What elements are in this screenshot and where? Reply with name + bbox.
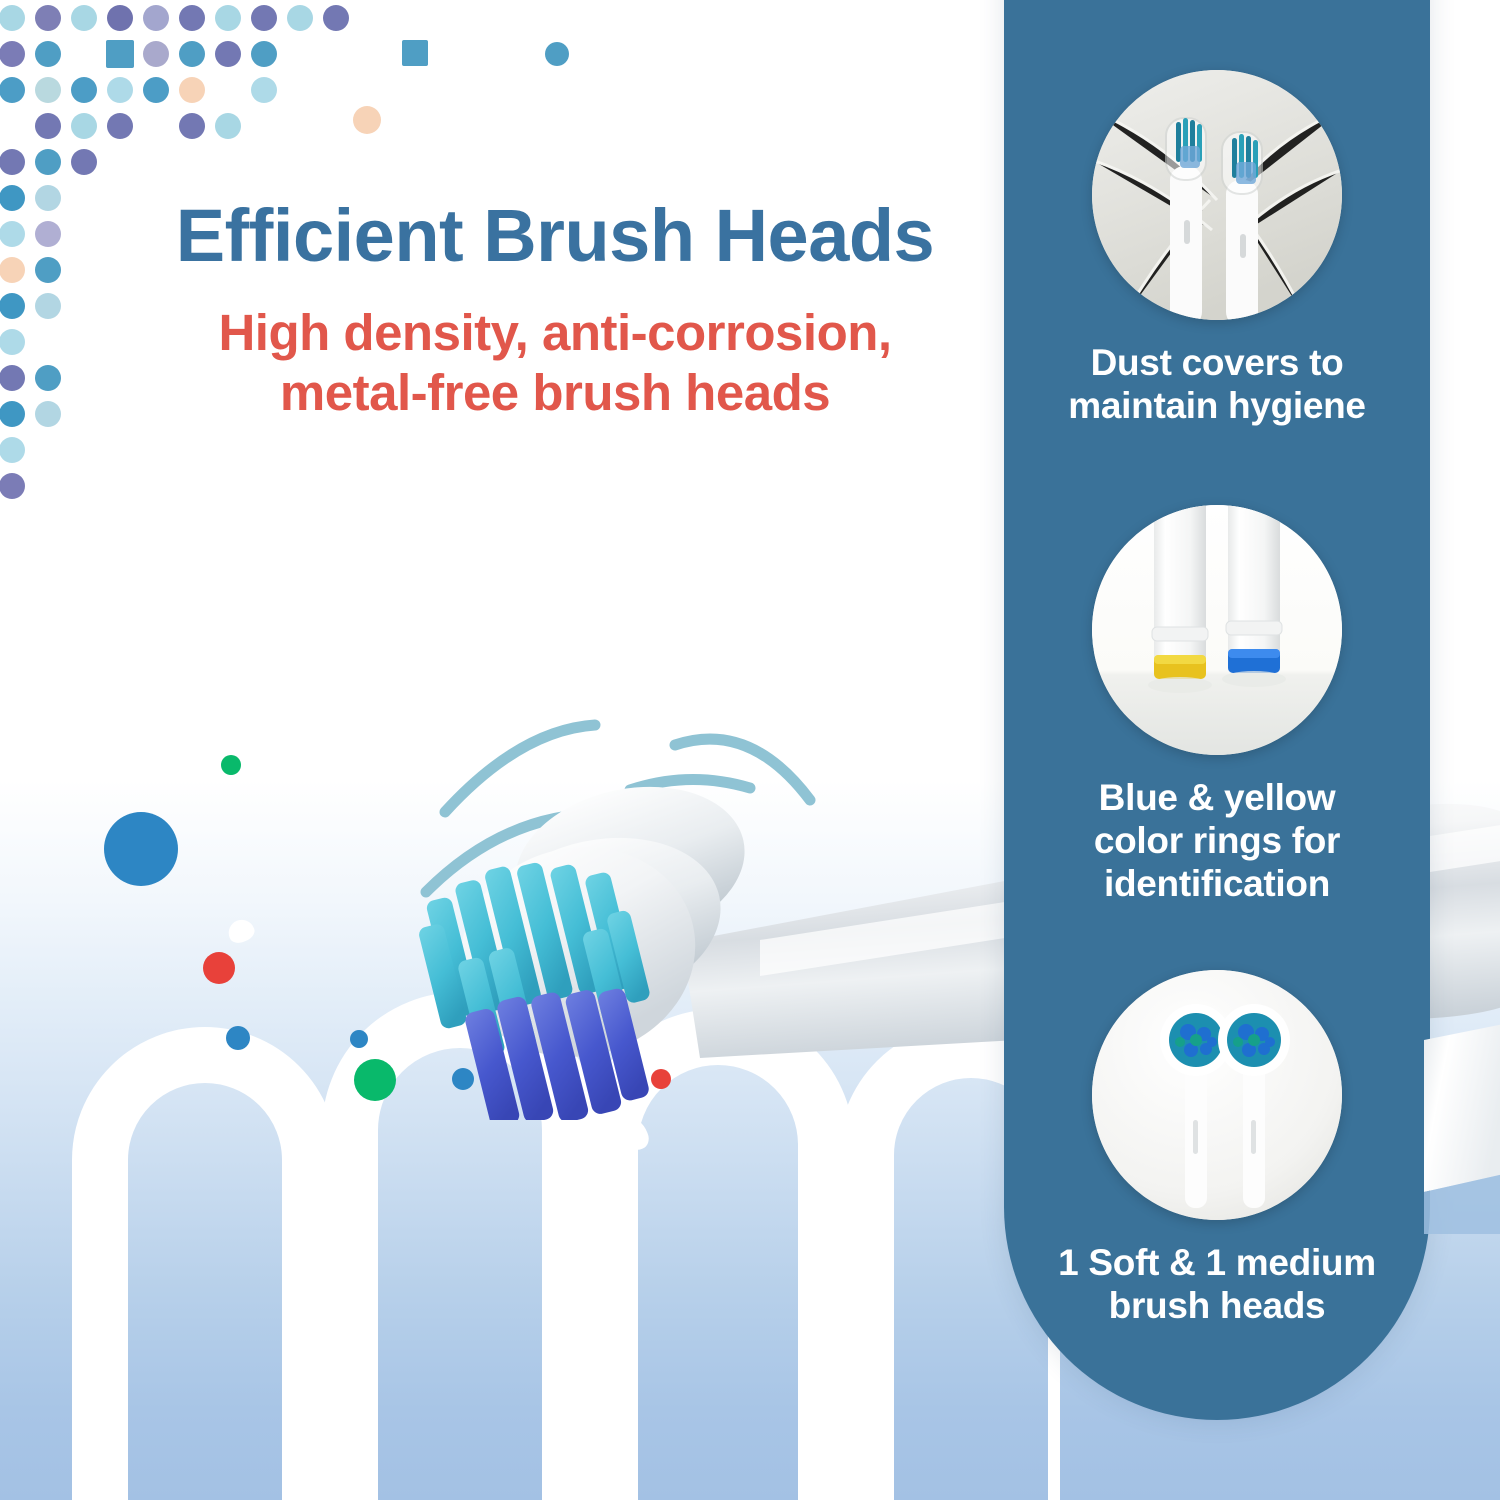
feature-item-color-rings[interactable]: Blue & yellow color rings for identifica…: [1004, 505, 1430, 906]
feature-caption-line: Blue & yellow: [1022, 777, 1412, 820]
page-title: Efficient Brush Heads: [150, 196, 960, 275]
feature-caption-line: color rings for: [1022, 820, 1412, 863]
accent-dot-red-tooth: [651, 1069, 671, 1089]
infographic-canvas: Efficient Brush Heads High density, anti…: [0, 0, 1500, 1500]
page-subtitle-line1: High density, anti-corrosion,: [150, 303, 960, 363]
accent-dot-blue-large: [104, 812, 178, 886]
feature-caption-line: 1 Soft & 1 medium: [1022, 1242, 1412, 1285]
toothbrush-handle-right-segment: [1424, 1024, 1500, 1234]
accent-dot-blue-tooth-mid: [452, 1068, 474, 1090]
accent-dot-green-small: [221, 755, 241, 775]
accent-dot-green-large: [354, 1059, 396, 1101]
feature-image-dust-covers: [1092, 70, 1342, 320]
feature-caption-line: identification: [1022, 863, 1412, 906]
feature-caption-line: maintain hygiene: [1022, 385, 1412, 428]
feature-image-color-rings: [1092, 505, 1342, 755]
feature-caption-soft-medium: 1 Soft & 1 medium brush heads: [1004, 1242, 1430, 1328]
accent-dot-blue-small: [226, 1026, 250, 1050]
feature-caption-dust-covers: Dust covers to maintain hygiene: [1004, 342, 1430, 428]
dust-covers-photo: [1092, 70, 1342, 320]
soft-medium-photo: [1092, 970, 1342, 1220]
page-subtitle: High density, anti-corrosion, metal-free…: [150, 303, 960, 423]
feature-item-dust-covers[interactable]: Dust covers to maintain hygiene: [1004, 70, 1430, 428]
feature-item-soft-medium[interactable]: 1 Soft & 1 medium brush heads: [1004, 970, 1430, 1328]
color-rings-photo: [1092, 505, 1342, 755]
feature-panel: Dust covers to maintain hygiene: [1004, 0, 1430, 1420]
feature-image-soft-medium: [1092, 970, 1342, 1220]
feature-caption-color-rings: Blue & yellow color rings for identifica…: [1004, 777, 1430, 906]
handle-right-svg: [1424, 1024, 1500, 1234]
page-subtitle-line2: metal-free brush heads: [150, 363, 960, 423]
feature-caption-line: brush heads: [1022, 1285, 1412, 1328]
accent-dot-blue-tooth-left: [350, 1030, 368, 1048]
accent-dot-red: [203, 952, 235, 984]
headline-block: Efficient Brush Heads High density, anti…: [150, 196, 960, 424]
feature-caption-line: Dust covers to: [1022, 342, 1412, 385]
